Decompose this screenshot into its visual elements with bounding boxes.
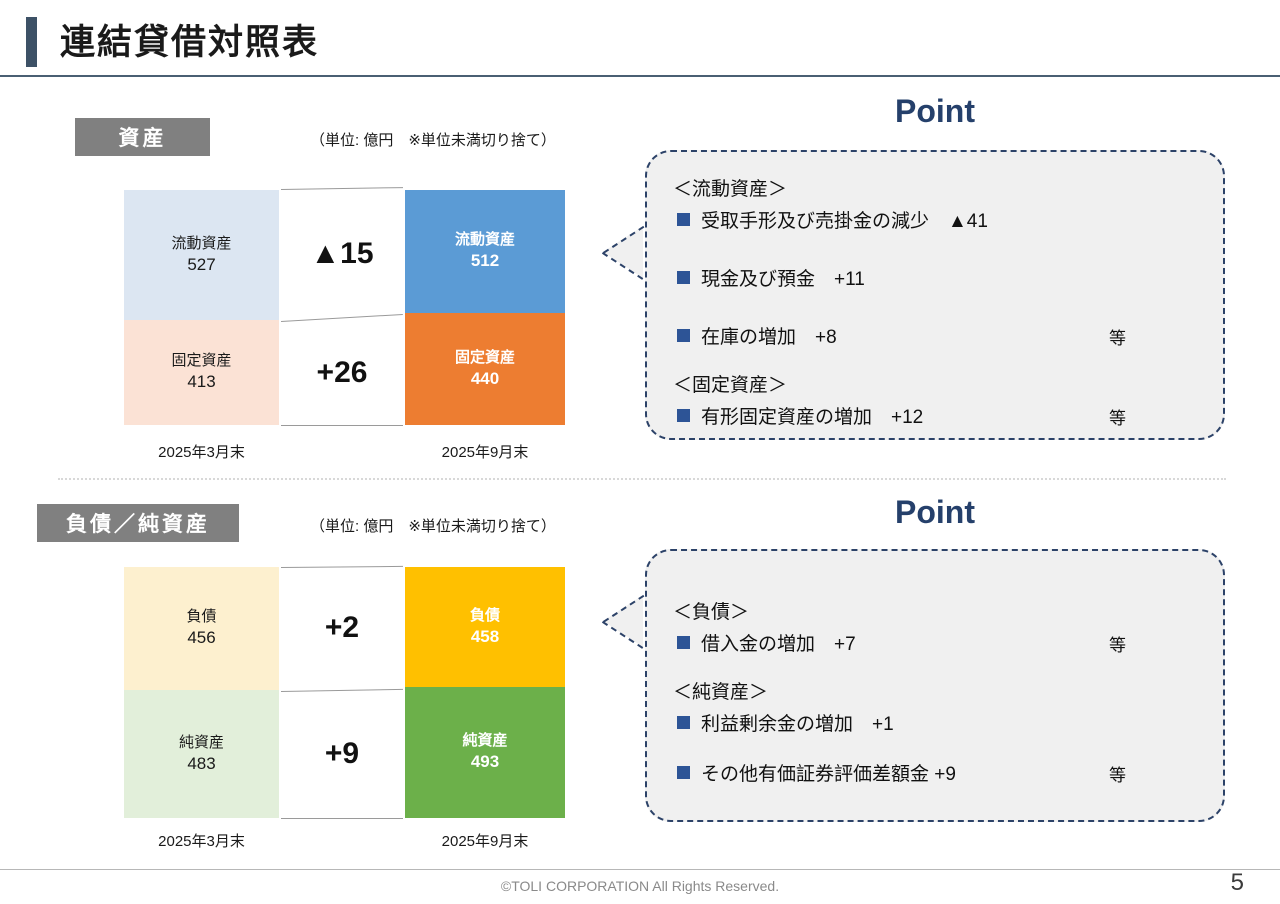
chart-block-start-1: 純資産 483 [124,690,279,818]
footer-copyright: ©TOLI CORPORATION All Rights Reserved. [0,878,1280,894]
page-number: 5 [1231,869,1244,897]
callout-item-1: 現金及び預金 +11 [677,264,865,291]
block-value: 483 [187,753,215,775]
chart-block-end-1: 純資産 493 [405,687,565,818]
block-value: 456 [187,627,215,649]
callout-item-0: 借入金の増加 +7 [677,629,856,656]
delta-value-1: +9 [281,690,403,818]
bullet-square-icon [677,716,690,729]
point-callout-liabilities: ＜負債＞ 借入金の増加 +7 等 ＜純資産＞ 利益剰余金の増加 +1 その他有価… [645,549,1225,822]
axis-label-right: 2025年9月末 [405,830,565,851]
callout-item-text: 受取手形及び売掛金の減少 ▲41 [701,206,988,233]
callout-item-text: 在庫の増加 +8 [701,322,837,349]
callout-item-text: 有形固定資産の増加 +12 [701,402,923,429]
callout-item-text: その他有価証券評価差額金 +9 [701,759,956,786]
callout-item-etc-2: 等 [1109,761,1126,786]
block-label: 純資産 [462,731,507,751]
point-heading-liabilities: Point [825,494,1045,531]
chart-block-end-0: 負債 458 [405,567,565,687]
block-label: 負債 [186,607,216,627]
bullet-square-icon [677,271,690,284]
chart-block-start-0: 負債 456 [124,567,279,690]
bullet-square-icon [677,636,690,649]
callout-item-2: その他有価証券評価差額金 +9 [677,759,956,786]
callout-group-heading-1: ＜固定資産＞ [673,370,787,397]
callout-item-etc-2: 等 [1109,324,1126,349]
point-callout-assets: ＜流動資産＞ 受取手形及び売掛金の減少 ▲41 現金及び預金 +11 在庫の増加… [645,150,1225,440]
callout-item-etc-0: 等 [1109,631,1126,656]
callout-item-2: 在庫の増加 +8 [677,322,837,349]
connector-bottom [281,818,403,819]
callout-group-heading-0: ＜負債＞ [673,597,749,624]
axis-label-left: 2025年3月末 [124,830,279,851]
callout-group-heading-1: ＜純資産＞ [673,677,768,704]
point-heading-assets: Point [825,93,1045,130]
callout-item-0: 受取手形及び売掛金の減少 ▲41 [677,206,988,233]
callout-item-text: 現金及び預金 +11 [701,264,865,291]
block-value: 493 [471,751,499,773]
callout-item-text: 利益剰余金の増加 +1 [701,709,894,736]
bullet-square-icon [677,766,690,779]
bullet-square-icon [677,329,690,342]
callout-group-heading-0: ＜流動資産＞ [673,174,787,201]
bullet-square-icon [677,213,690,226]
callout-item-1: 利益剰余金の増加 +1 [677,709,894,736]
bullet-square-icon [677,409,690,422]
callout-item-text: 借入金の増加 +7 [701,629,856,656]
block-label: 負債 [470,606,500,626]
bridge-chart-liabilities: 負債 456 純資産 483 +2 +9 負債 458 純資産 493 2025… [0,0,600,850]
callout-item-3: 有形固定資産の増加 +12 [677,402,923,429]
delta-value-0: +2 [281,566,403,690]
footer-divider [0,869,1280,870]
callout-item-etc-3: 等 [1109,404,1126,429]
block-value: 458 [471,626,499,648]
block-label: 純資産 [179,733,224,753]
